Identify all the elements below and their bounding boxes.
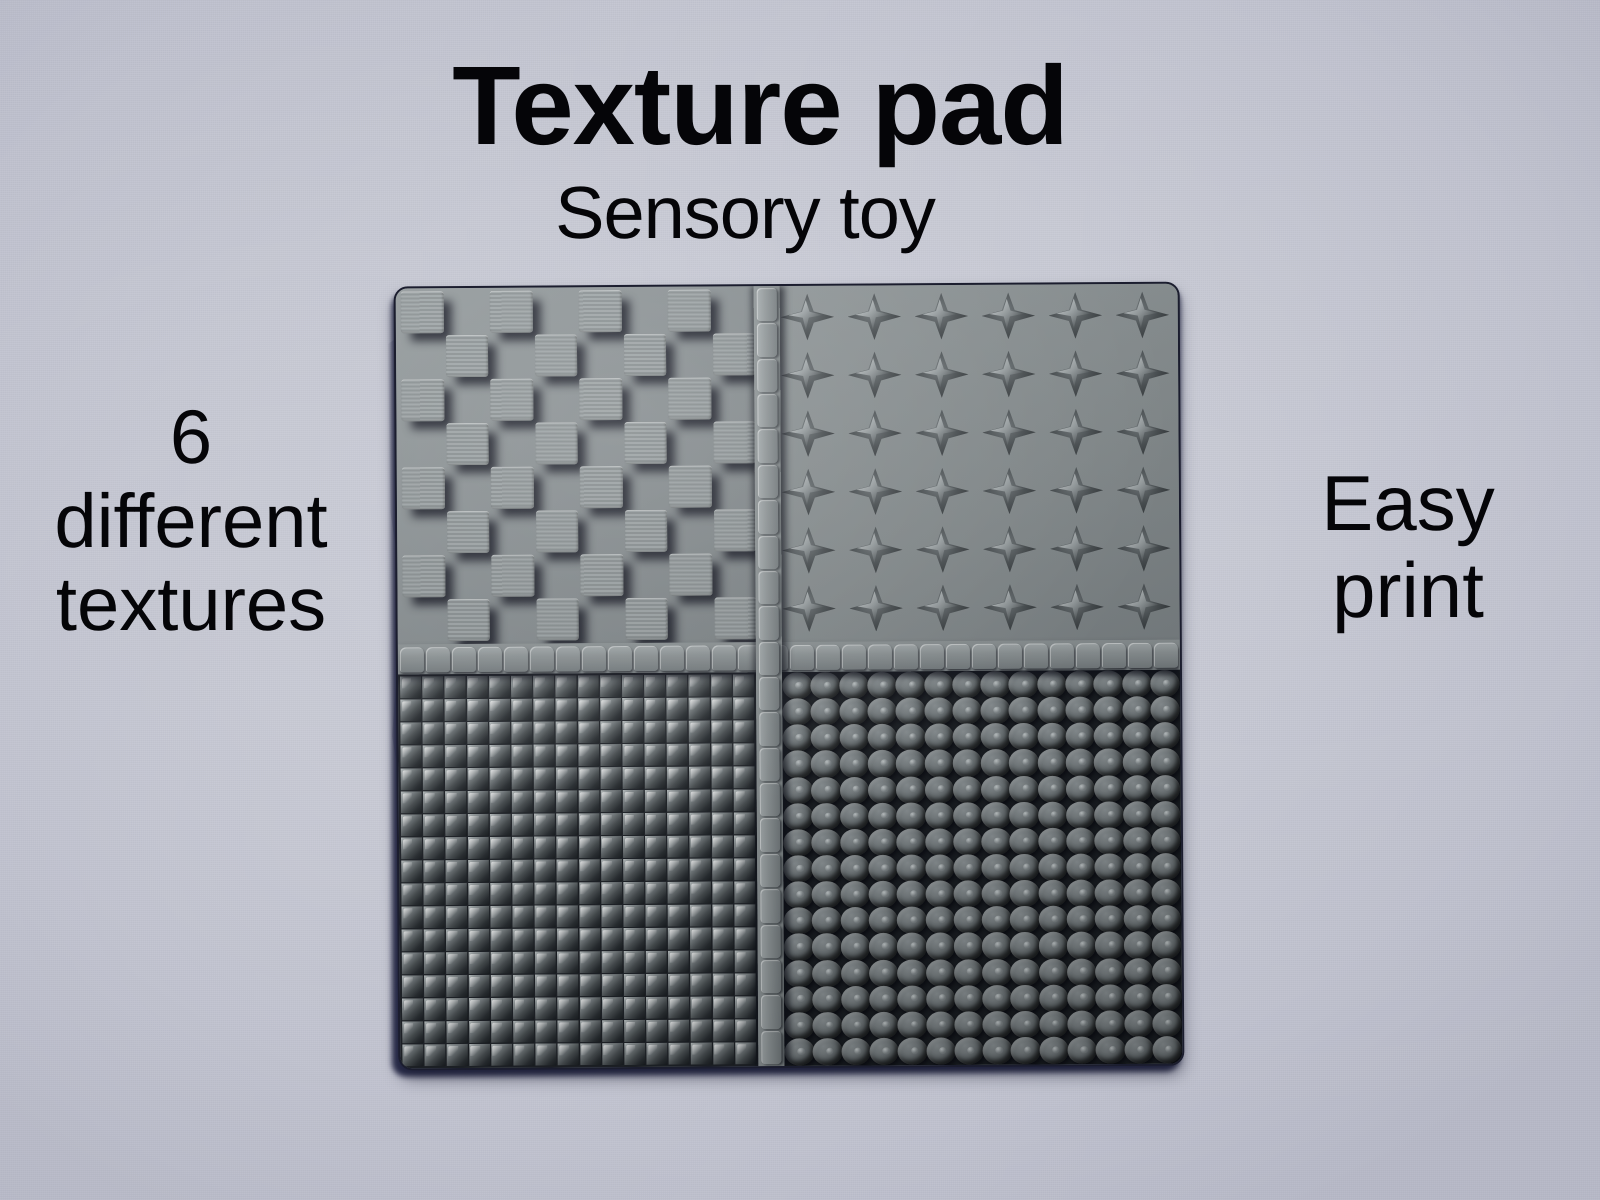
horizontal-rib-divider bbox=[398, 640, 1180, 675]
quadrant-dome-bumps bbox=[782, 670, 1182, 1066]
pyramid-grid bbox=[400, 674, 756, 1066]
horizontal-rib-row bbox=[400, 643, 1178, 673]
pad-body bbox=[396, 284, 1183, 1069]
photo-canvas: Texture pad Sensory toy 6 different text… bbox=[0, 0, 1600, 1200]
quadrant-star-studs bbox=[772, 284, 1180, 642]
dome-bump-grid bbox=[783, 671, 1181, 1065]
quadrant-ribbed-checkerboard bbox=[396, 286, 762, 644]
texture-pad bbox=[386, 276, 1186, 1072]
star-stud-grid bbox=[774, 286, 1178, 638]
vertical-rib-divider bbox=[754, 286, 785, 1066]
vertical-rib-column bbox=[757, 288, 782, 1064]
right-caption: Easy print bbox=[1228, 460, 1588, 635]
page-title: Texture pad bbox=[0, 50, 1600, 162]
page-subtitle: Sensory toy bbox=[0, 176, 1600, 250]
quadrant-pyramids bbox=[398, 672, 758, 1068]
left-caption: 6 different textures bbox=[8, 396, 374, 647]
checkerboard-grid bbox=[400, 288, 758, 642]
